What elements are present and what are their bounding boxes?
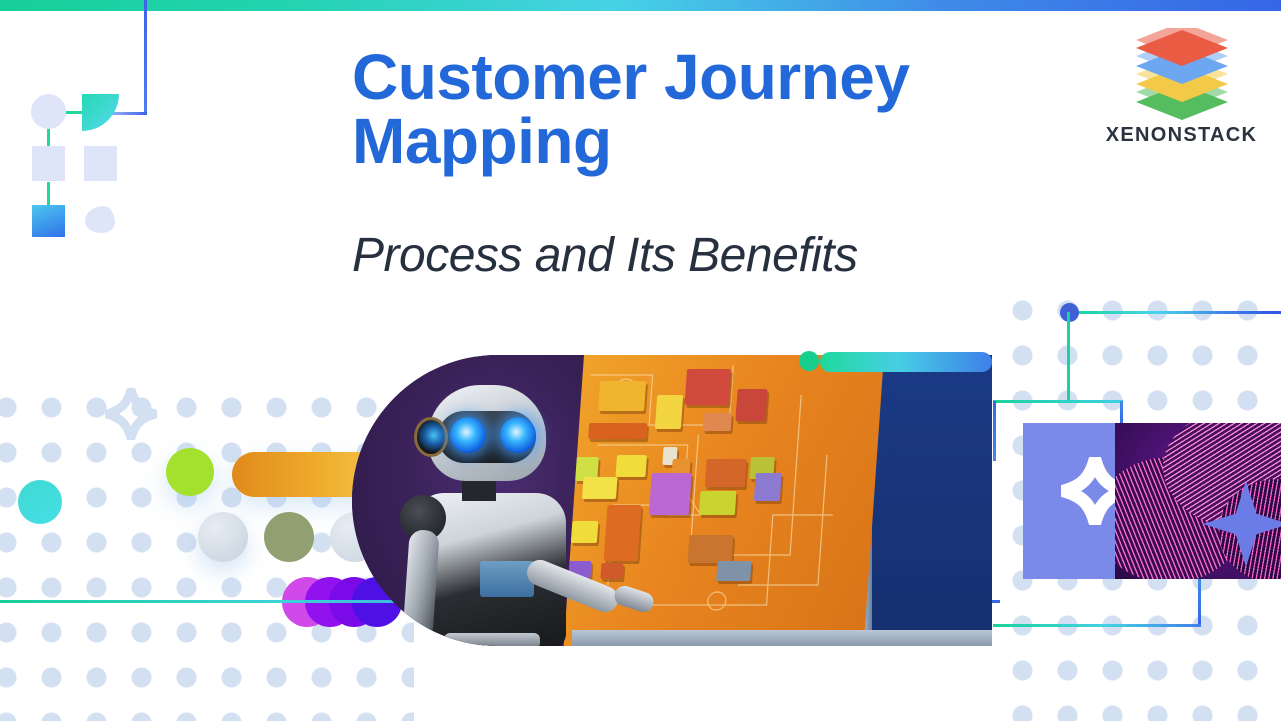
lavender-circle-node <box>31 94 66 129</box>
lavender-square-right <box>84 146 117 181</box>
board-tile <box>571 521 599 543</box>
board-tile <box>604 505 642 561</box>
brand-name: XENONSTACK <box>1094 124 1269 147</box>
right-connector-vertical-blue-left <box>993 401 996 461</box>
olive-circle <box>264 512 314 562</box>
abstract-fractal-image <box>1115 423 1281 579</box>
right-connector-vertical-blue-lower <box>1198 578 1201 626</box>
board-tile <box>716 561 751 581</box>
board-tile <box>600 563 623 579</box>
board-tile <box>735 389 767 421</box>
board-tile <box>598 381 646 411</box>
right-connector-vertical-blue-upper <box>1120 401 1123 425</box>
quarter-circle-shape <box>82 94 119 131</box>
right-connector-horizontal-mid <box>993 400 1123 403</box>
title-line-2: Mapping <box>352 109 1012 173</box>
right-connector-vertical-green <box>1067 312 1070 402</box>
brand-logo[interactable]: XENONSTACK <box>1094 28 1269 153</box>
four-point-star-icon-left <box>105 388 157 440</box>
robot-eye-side <box>414 417 448 457</box>
board-tile <box>649 473 692 515</box>
lavender-blob-shape <box>85 206 115 233</box>
board-tile <box>582 477 618 499</box>
hero-accent-pill <box>820 352 992 372</box>
hero-accent-dot <box>799 351 819 371</box>
top-gradient-bar <box>0 0 1281 11</box>
blue-gradient-square <box>32 205 65 237</box>
right-connector-horizontal-top <box>1074 311 1281 314</box>
lavender-square-left <box>32 146 65 181</box>
decorative-card-right <box>1023 423 1281 579</box>
slide-canvas: Customer Journey Mapping Process and Its… <box>0 0 1281 721</box>
board-tile <box>687 535 733 563</box>
hero-image <box>352 355 992 646</box>
robot-eye-right <box>500 417 536 453</box>
board-tile <box>754 473 782 501</box>
board-tile <box>655 395 683 429</box>
board-tile <box>588 423 647 439</box>
title-line-1: Customer Journey <box>352 45 1012 109</box>
cyan-circle <box>18 480 62 524</box>
page-title: Customer Journey Mapping <box>352 45 1012 173</box>
board-floor-shadow <box>572 630 992 646</box>
board-tile <box>699 491 737 515</box>
lime-circle <box>166 448 214 496</box>
gray-sphere-left <box>198 512 248 562</box>
stacked-layers-icon <box>1132 28 1232 120</box>
board-tile <box>705 459 747 487</box>
page-subtitle: Process and Its Benefits <box>352 230 1032 283</box>
right-connector-horizontal-bottom <box>993 624 1201 627</box>
board-tile <box>703 413 732 431</box>
board-tile <box>615 455 647 477</box>
connector-line-vertical-blue <box>144 0 147 114</box>
hero-navy-panel <box>872 355 992 646</box>
robot-eye-left <box>450 417 486 453</box>
board-tile <box>685 369 732 405</box>
